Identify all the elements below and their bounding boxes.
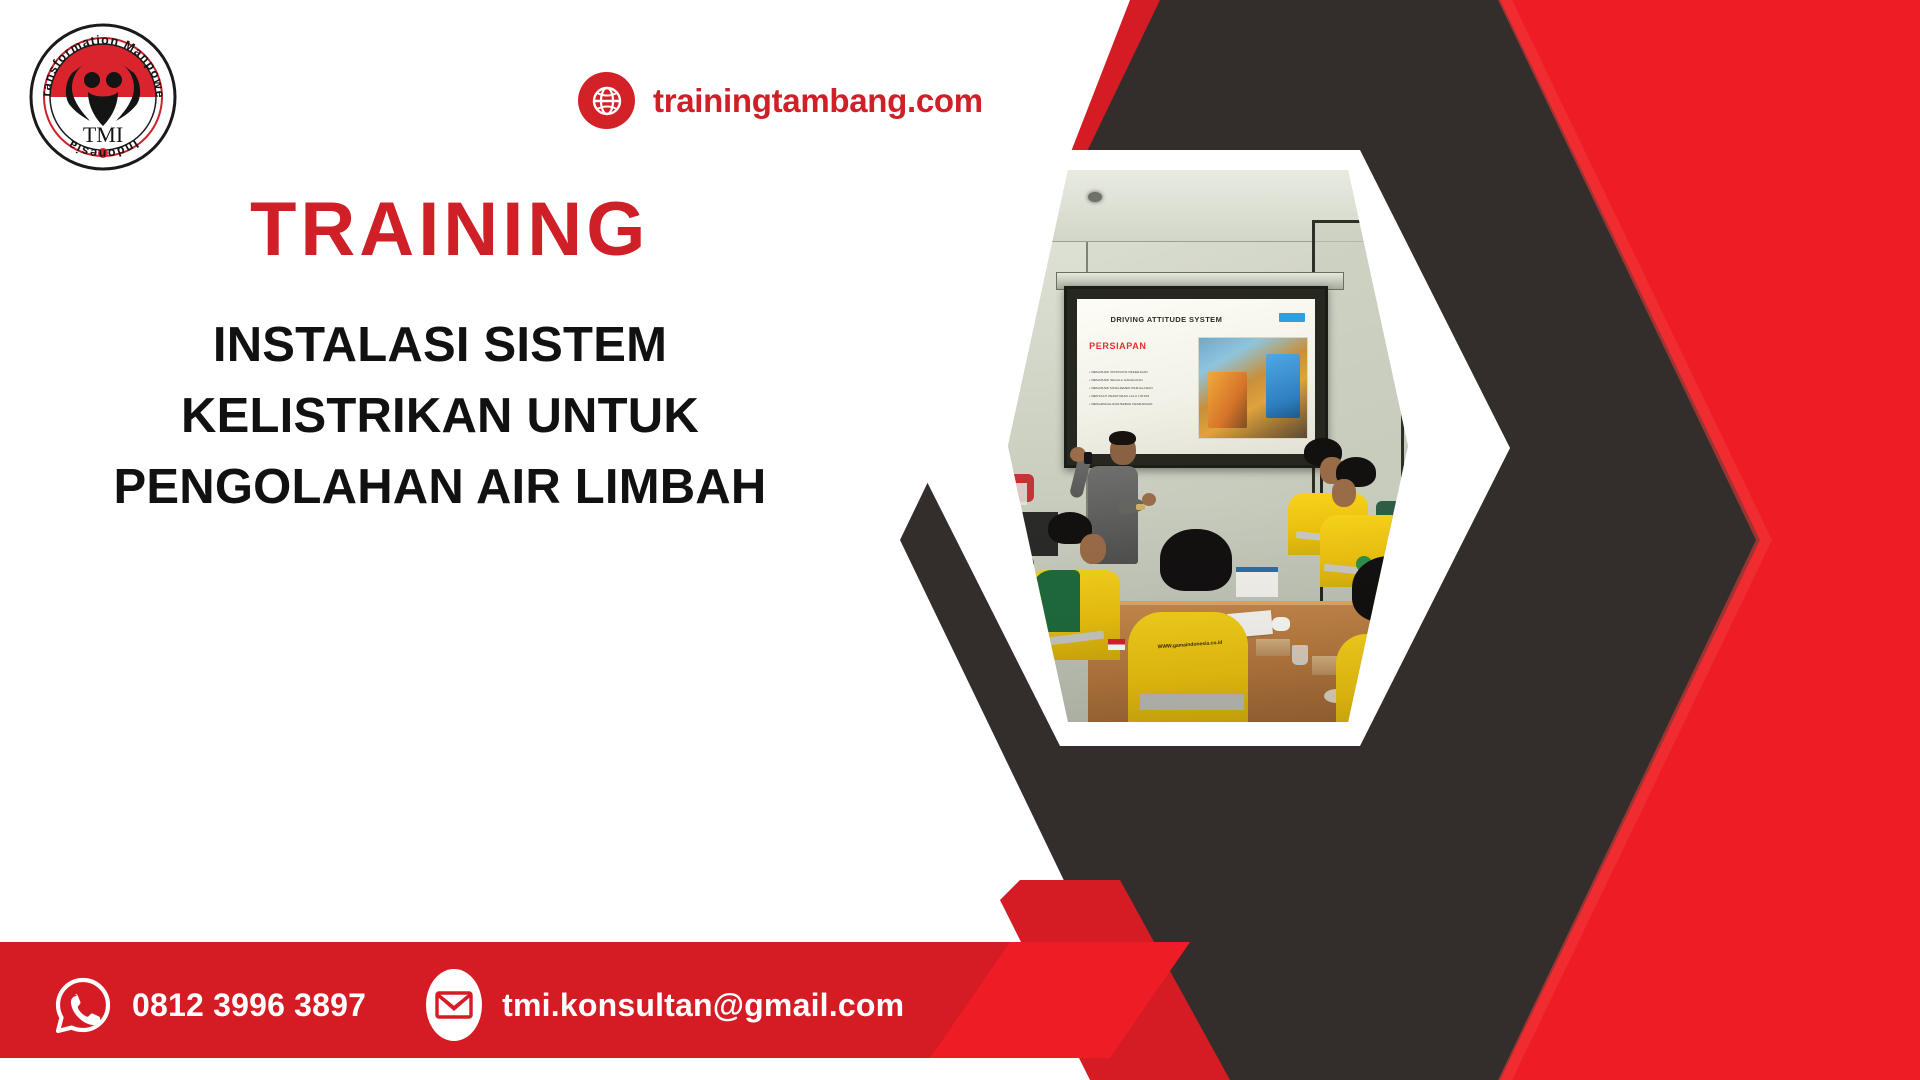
promo-banner: TMI Transformation Manpower Indonesia tr…: [0, 0, 1920, 1080]
website-row[interactable]: trainingtambang.com: [578, 72, 983, 129]
globe-icon: [578, 72, 635, 129]
globe-icon-svg: [589, 83, 625, 119]
whatsapp-icon: [52, 974, 114, 1036]
training-photo: DRIVING ATTITUDE SYSTEM PERSIAPAN MEMAHA…: [1008, 170, 1408, 722]
contact-whatsapp[interactable]: 0812 3996 3897: [52, 974, 366, 1036]
headline-line-2: KELISTRIKAN UNTUK: [40, 381, 840, 452]
phone-number[interactable]: 0812 3996 3897: [132, 987, 366, 1024]
email-address[interactable]: tmi.konsultan@gmail.com: [502, 987, 904, 1024]
tmi-logo-svg: TMI Transformation Manpower Indonesia: [28, 22, 178, 172]
website-url[interactable]: trainingtambang.com: [653, 82, 983, 120]
headline-block: INSTALASI SISTEM KELISTRIKAN UNTUK PENGO…: [40, 310, 840, 523]
envelope-icon: [424, 967, 484, 1043]
headline-eyebrow: TRAINING: [250, 186, 649, 273]
training-photo-scene: DRIVING ATTITUDE SYSTEM PERSIAPAN MEMAHA…: [1008, 170, 1408, 722]
geometric-background: [0, 0, 1920, 1080]
tmi-logo: TMI Transformation Manpower Indonesia: [28, 22, 178, 172]
logo-initials: TMI: [83, 122, 123, 147]
footer-contacts: 0812 3996 3897 tmi.konsultan@gmail.com: [0, 930, 1050, 1080]
headline-line-3: PENGOLAHAN AIR LIMBAH: [40, 452, 840, 523]
geometric-shapes-svg: [0, 0, 1920, 1080]
contact-email[interactable]: tmi.konsultan@gmail.com: [424, 967, 904, 1043]
headline-line-1: INSTALASI SISTEM: [40, 310, 840, 381]
photo-vignette: [1008, 170, 1408, 722]
